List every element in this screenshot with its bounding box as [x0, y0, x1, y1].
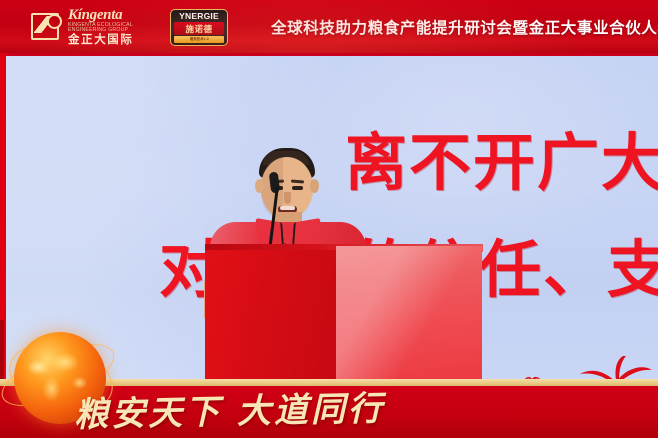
- speaker-nose: [284, 192, 291, 204]
- speaker-arm-right: [338, 270, 372, 318]
- speaker-collar-right: [292, 218, 321, 252]
- speaker-ear-left: [255, 179, 264, 193]
- speaker-shirt-button-top: [281, 249, 286, 254]
- synergie-logo-english: YNERGIE: [179, 12, 219, 21]
- event-header-band: Kíngenta KINGENTA ECOLOGICAL ENGINEERING…: [0, 0, 658, 53]
- kingenta-logo-icon: [31, 13, 62, 42]
- synergie-band-text: 增效技术2.0: [189, 37, 208, 42]
- event-title: 全球科技助力粮食产能提升研讨会暨金正大事业合伙人年度峰会: [271, 0, 658, 53]
- speaker-ear-right: [310, 179, 319, 193]
- speaker-lapel-badge: [317, 254, 326, 266]
- synergie-logo-band: 增效技术2.0: [174, 36, 224, 43]
- slide-headline-line-1: 离不开广大合: [345, 112, 658, 202]
- synergie-brand-logo: YNERGIE 施诺德 增效技术2.0: [170, 9, 228, 46]
- speaker-chest-embroidery: [245, 252, 259, 257]
- speaker-arm-left: [204, 270, 240, 318]
- led-presentation-screen: 离不开广大合 对大家的信任、支持: [6, 56, 658, 381]
- speaker-shirt-placket: [283, 243, 286, 275]
- speaker-shirt-button-bottom: [281, 263, 286, 268]
- speaker-eye-right: [292, 186, 303, 190]
- banner-left-edge: [0, 320, 4, 382]
- conference-photo-stage: Kíngenta KINGENTA ECOLOGICAL ENGINEERING…: [0, 0, 658, 438]
- kingenta-logo-chinese: 金正大国际: [68, 35, 156, 47]
- speaker-person: [202, 148, 374, 318]
- kingenta-logo-english: Kíngenta: [68, 8, 156, 23]
- kingenta-brand-logo: Kíngenta KINGENTA ECOLOGICAL ENGINEERING…: [31, 10, 156, 44]
- speaker-collar-left: [256, 218, 285, 252]
- speaker-eye-left: [272, 186, 283, 190]
- banner-slogan: 粮安天下 大道同行: [73, 379, 385, 437]
- synergie-logo-chinese: 施诺德: [185, 24, 212, 34]
- kingenta-logo-tagline: KINGENTA ECOLOGICAL ENGINEERING GROUP: [68, 23, 156, 33]
